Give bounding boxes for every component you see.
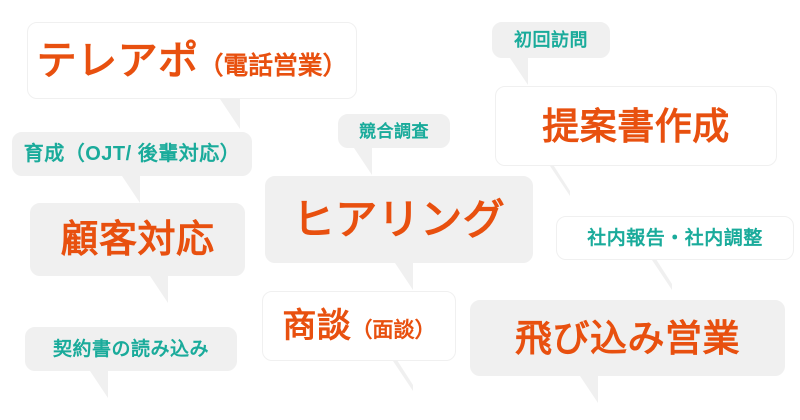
bubble-tail-kyougou [352, 145, 372, 175]
bubble-tail-tobikomi [578, 373, 598, 403]
bubble-tail-shoudan-fill [395, 357, 413, 385]
bubble-label-shoudan: 商談（面談） [282, 309, 435, 343]
bubble-label-shokai: 初回訪問 [514, 31, 588, 49]
bubble-teian[interactable]: 提案書作成 [495, 86, 777, 166]
bubble-tail-kokyaku [148, 273, 168, 303]
bubble-label-kyougou: 競合調査 [359, 123, 429, 140]
bubble-label-telepo: テレアポ（電話営業） [37, 41, 348, 81]
bubble-tail-teian-fill [552, 163, 570, 191]
bubble-tail-keiyaku [88, 368, 108, 398]
bubble-label-keiyaku: 契約書の読み込み [53, 340, 209, 359]
bubble-telepo[interactable]: テレアポ（電話営業） [27, 22, 357, 99]
bubble-label-ikusei: 育成（OJT/ 後輩対応） [24, 144, 241, 164]
bubble-label-teian: 提案書作成 [542, 108, 730, 145]
bubble-tail-ikusei [120, 173, 140, 203]
bubble-shoudan[interactable]: 商談（面談） [262, 291, 456, 361]
bubble-label-tobikomi: 飛び込み営業 [515, 320, 740, 357]
bubble-tail-shoudan-outline [391, 358, 413, 391]
bubble-hearing[interactable]: ヒアリング [265, 176, 533, 263]
bubble-label-hearing: ヒアリング [293, 199, 506, 241]
bubble-keiyaku[interactable]: 契約書の読み込み [25, 327, 237, 371]
bubble-tail-hearing [393, 260, 413, 290]
bubble-tail-shanai-fill [654, 256, 672, 284]
bubble-kokyaku[interactable]: 顧客対応 [30, 203, 245, 276]
bubble-tail-shokai [508, 55, 528, 85]
bubble-tail-teian-outline [548, 163, 570, 196]
bubble-tail-shanai-outline [650, 257, 672, 290]
bubble-ikusei[interactable]: 育成（OJT/ 後輩対応） [12, 132, 252, 176]
bubble-tobikomi[interactable]: 飛び込み営業 [470, 300, 785, 376]
bubble-label-shanai: 社内報告・社内調整 [587, 229, 763, 248]
bubble-shokai[interactable]: 初回訪問 [492, 22, 610, 58]
bubble-shanai[interactable]: 社内報告・社内調整 [556, 216, 794, 260]
bubble-tail-telepo [218, 96, 240, 129]
bubble-label-kokyaku: 顧客対応 [60, 221, 214, 259]
speech-bubble-canvas: テレアポ（電話営業） 育成（OJT/ 後輩対応） 競合調査 初回訪問 提案書作成… [0, 0, 800, 420]
bubble-kyougou[interactable]: 競合調査 [338, 114, 450, 148]
